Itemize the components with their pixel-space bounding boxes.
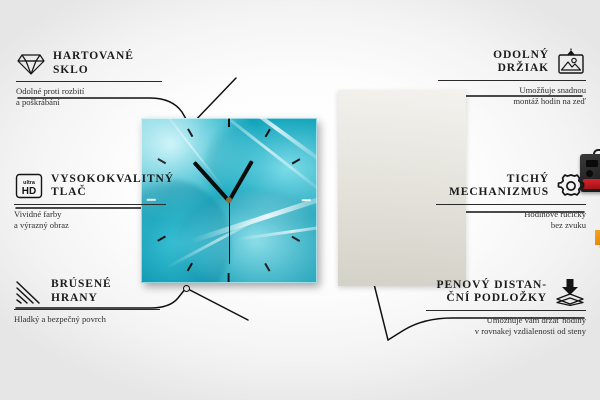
feature-head: HARTOVANÉ SKLO [16, 50, 162, 77]
feature-high-quality-print: ultra HD VYSOKOKVALITNÝ TLAČ Vividné far… [14, 172, 166, 230]
feature-description: Umožňuje vám držať hodiny v rovnakej vzd… [426, 315, 586, 336]
feature-head: PENOVÝ DISTAN- ČNÍ PODLOŽKY [426, 278, 586, 306]
feature-durable-hanger: ODOLNÝ DRŽIAK Umožňuje snadnou montáž ho… [438, 48, 586, 106]
feature-tempered-glass: HARTOVANÉ SKLO Odolné proti rozbití a po… [16, 50, 162, 107]
feature-title: BRÚSENÉ HRANY [51, 278, 112, 305]
glass-edge [141, 118, 317, 283]
feature-description: Hladký a bezpečný povrch [14, 314, 160, 325]
divider [14, 309, 160, 310]
ground-edges-icon [14, 279, 44, 305]
picture-hanger-icon [556, 48, 586, 76]
feature-title: PENOVÝ DISTAN- ČNÍ PODLOŽKY [437, 279, 547, 306]
feature-title: HARTOVANÉ SKLO [53, 50, 134, 77]
feature-title: ODOLNÝ DRŽIAK [493, 49, 549, 76]
divider [438, 80, 586, 81]
feature-silent-mechanism: TICHÝ MECHANIZMUS Hodinové ručičky bez z… [436, 172, 586, 230]
feature-description: Umožňuje snadnou montáž hodin na zeď [438, 85, 586, 106]
foam-spacer-pad [595, 230, 600, 245]
feature-description: Hodinové ručičky bez zvuku [436, 209, 586, 230]
movement-detail [586, 160, 598, 167]
foam-spacer-icon [554, 278, 586, 306]
gear-icon [556, 172, 586, 200]
feature-head: ultra HD VYSOKOKVALITNÝ TLAČ [14, 172, 166, 200]
feature-head: BRÚSENÉ HRANY [14, 278, 160, 305]
divider [436, 204, 586, 205]
divider [14, 204, 166, 205]
wall-clock-face [141, 118, 317, 283]
feature-head: TICHÝ MECHANIZMUS [436, 172, 586, 200]
diamond-icon [16, 51, 46, 77]
ultra-hd-badge-icon: ultra HD [14, 172, 44, 200]
divider [16, 81, 162, 82]
divider [426, 310, 586, 311]
movement-shaft [586, 170, 593, 177]
feature-description: Vividné farby a výrazný obraz [14, 209, 166, 230]
feature-foam-spacers: PENOVÝ DISTAN- ČNÍ PODLOŽKY Umožňuje vám… [426, 278, 586, 336]
feature-ground-edges: BRÚSENÉ HRANY Hladký a bezpečný povrch [14, 278, 160, 325]
infographic-canvas: + [0, 0, 600, 400]
feature-title: TICHÝ MECHANIZMUS [449, 173, 549, 200]
svg-text:HD: HD [22, 186, 36, 197]
feature-title: VYSOKOKVALITNÝ TLAČ [51, 173, 174, 200]
feature-description: Odolné proti rozbití a poškrábání [16, 86, 162, 107]
wire-to-clock-bottom [186, 288, 248, 320]
feature-head: ODOLNÝ DRŽIAK [438, 48, 586, 76]
